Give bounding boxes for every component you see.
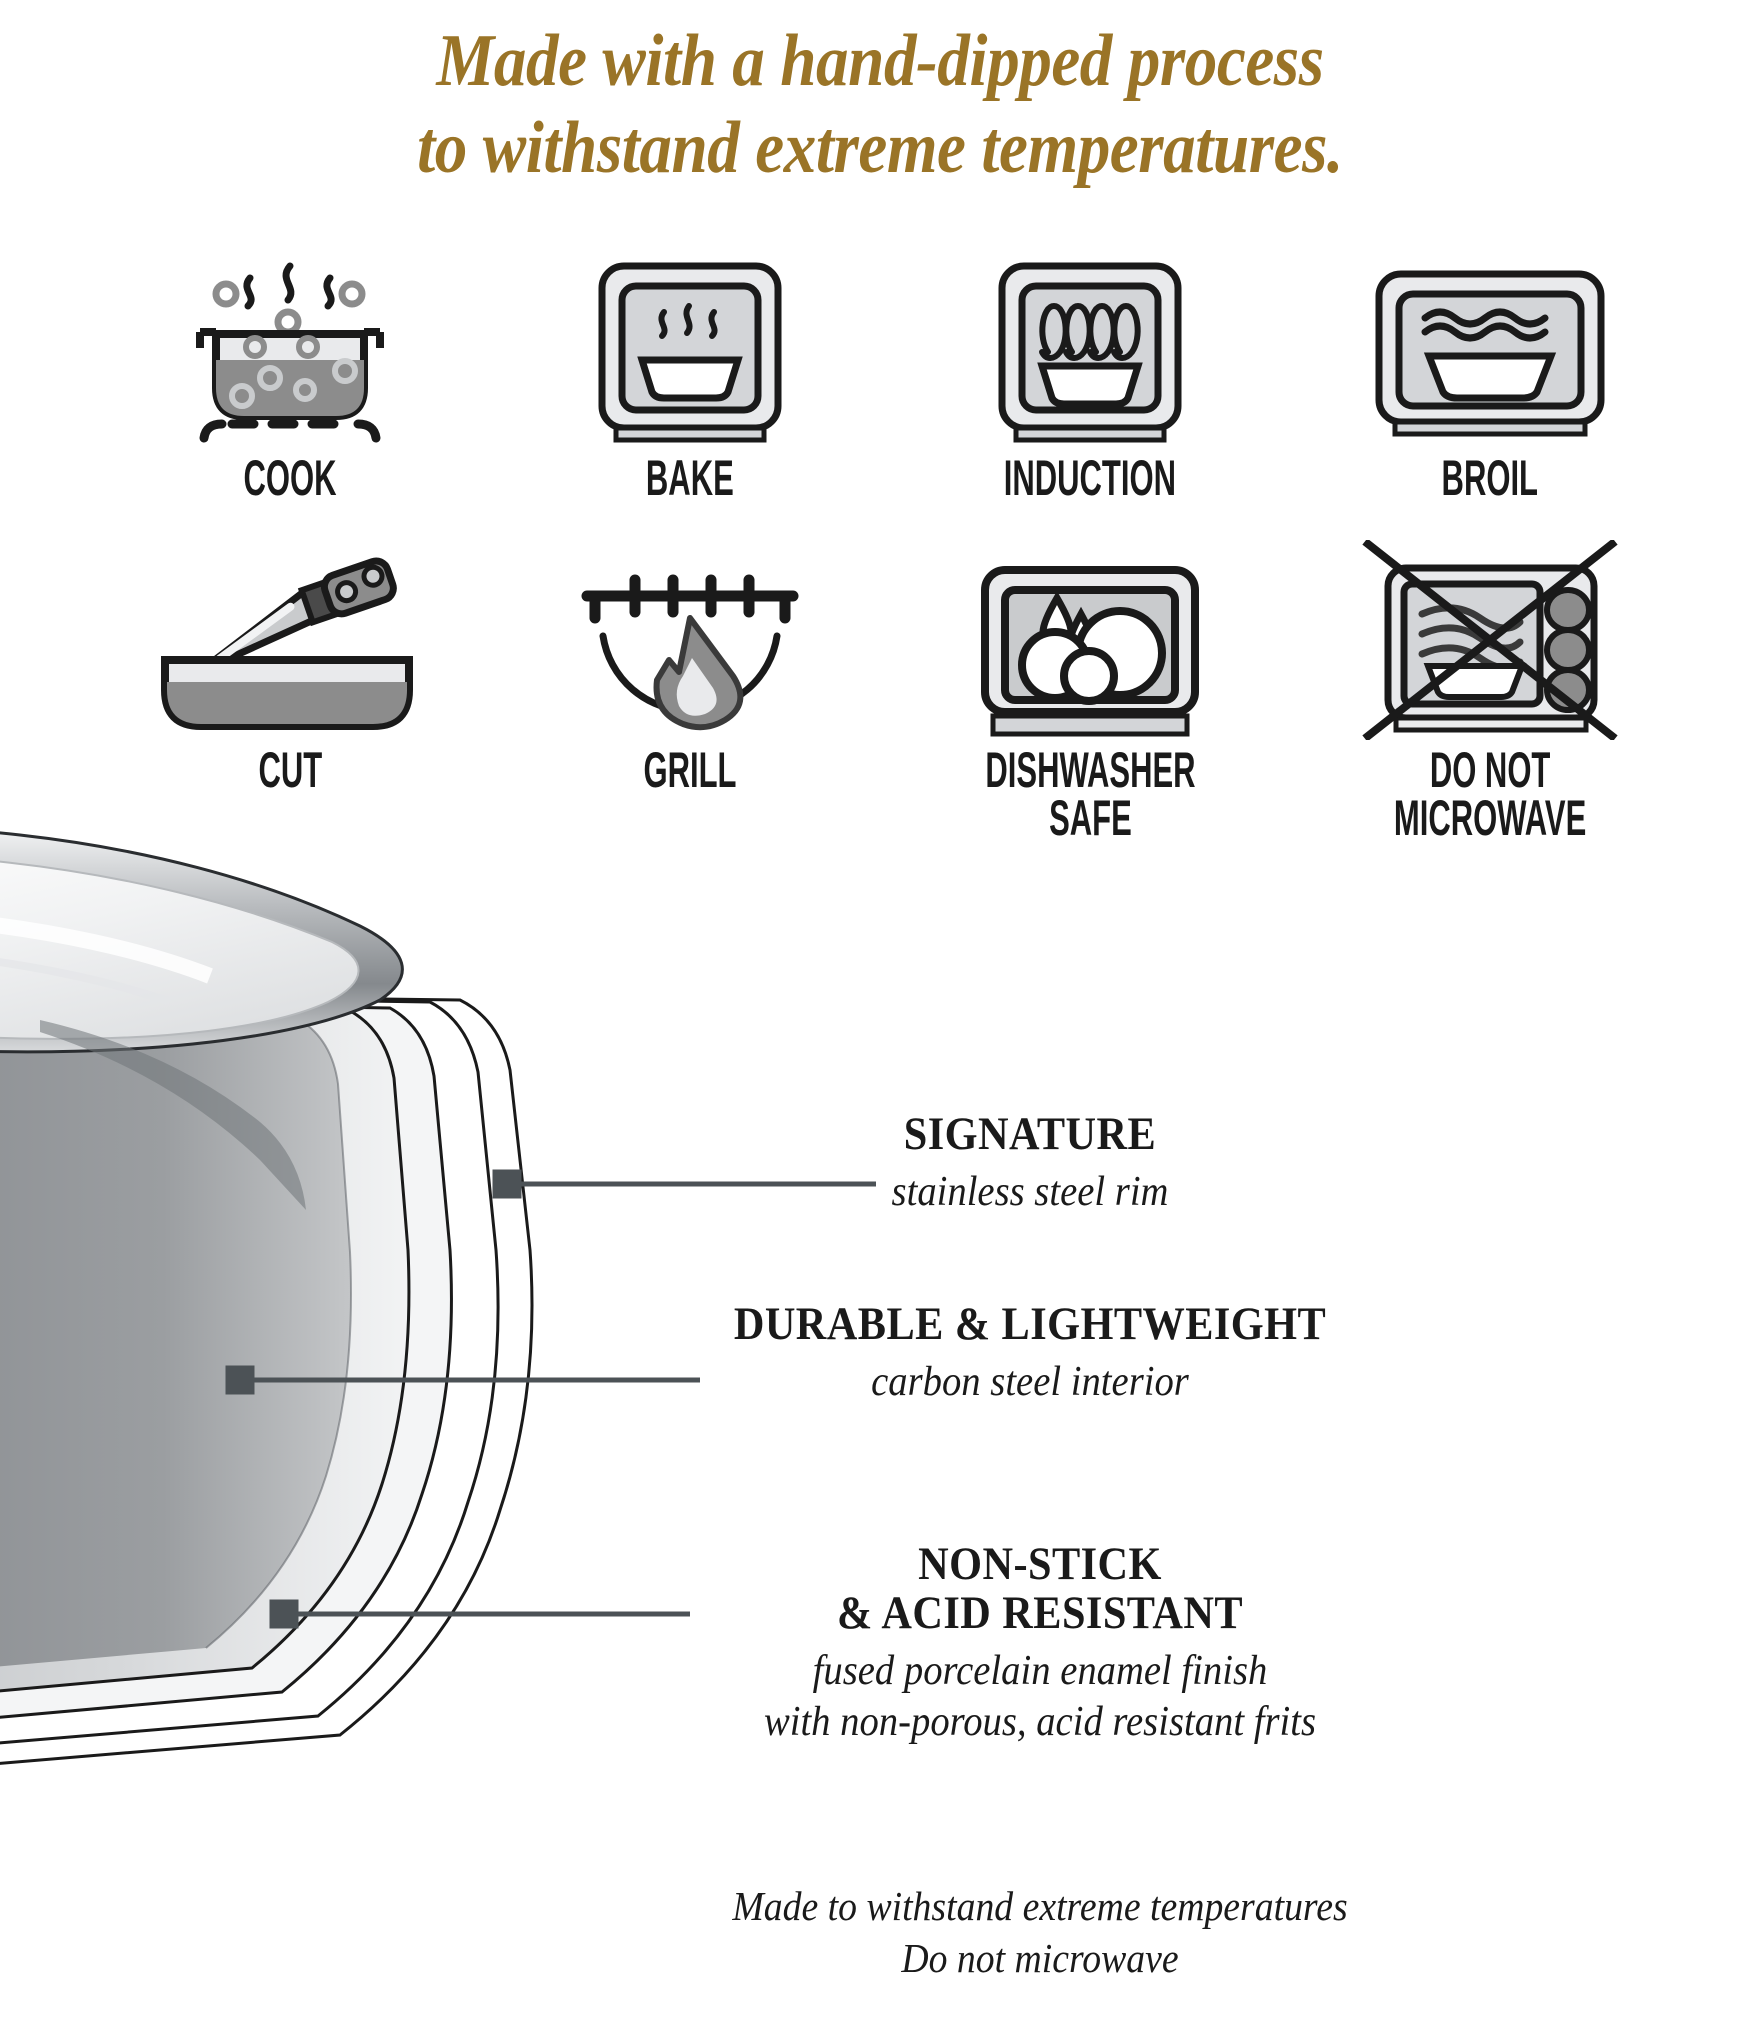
icon-label-do-not-microwave-line-1: DO NOT	[1394, 746, 1586, 794]
icon-label-dishwasher-safe: DISHWASHER SAFE	[985, 746, 1195, 842]
icon-row-1: COOK BA	[90, 248, 1690, 502]
callout-non-stick-subtitle-line-1: fused porcelain enamel finish	[626, 1646, 1454, 1697]
footnote-line-1: Made to withstand extreme temperatures	[506, 1880, 1573, 1932]
icon-label-cook: COOK	[244, 454, 337, 502]
icon-label-dishwasher-safe-line-1: DISHWASHER	[985, 746, 1195, 794]
headline-line-2: to withstand extreme temperatures.	[106, 105, 1655, 192]
callout-signature-title: SIGNATURE	[679, 1110, 1381, 1159]
bake-icon	[580, 248, 800, 448]
icon-cell-cook: COOK	[90, 248, 490, 502]
callout-non-stick-title: NON-STICK & ACID RESISTANT	[635, 1540, 1445, 1638]
do-not-microwave-icon	[1360, 530, 1620, 740]
broil-icon	[1365, 248, 1615, 448]
icon-cell-dishwasher-safe: DISHWASHER SAFE	[890, 530, 1290, 842]
callout-non-stick-title-line-1: NON-STICK	[635, 1540, 1445, 1589]
product-feature-infographic: Made with a hand-dipped process to withs…	[0, 0, 1760, 2040]
icon-cell-broil: BROIL	[1290, 248, 1690, 502]
footnote: Made to withstand extreme temperatures D…	[506, 1880, 1573, 1985]
icon-cell-induction: INDUCTION	[890, 248, 1290, 502]
icon-label-bake: BAKE	[646, 454, 734, 502]
cook-icon	[170, 248, 410, 448]
callout-durable-title: DURABLE & LIGHTWEIGHT	[607, 1300, 1453, 1349]
callout-non-stick-title-line-2: & ACID RESISTANT	[635, 1589, 1445, 1638]
icon-label-dishwasher-safe-line-2: SAFE	[985, 794, 1195, 842]
icon-label-do-not-microwave: DO NOT MICROWAVE	[1394, 746, 1586, 842]
callout-durable-subtitle: carbon steel interior	[598, 1357, 1463, 1408]
callout-non-stick-subtitle-line-2: with non-porous, acid resistant frits	[626, 1697, 1454, 1748]
callout-signature-subtitle: stainless steel rim	[671, 1167, 1389, 1218]
icon-cell-bake: BAKE	[490, 248, 890, 502]
icon-label-do-not-microwave-line-2: MICROWAVE	[1394, 794, 1586, 842]
induction-icon	[980, 248, 1200, 448]
headline-line-1: Made with a hand-dipped process	[436, 20, 1323, 102]
callout-non-stick: NON-STICK & ACID RESISTANT fused porcela…	[590, 1540, 1490, 1748]
callout-non-stick-subtitle: fused porcelain enamel finish with non-p…	[626, 1646, 1454, 1748]
icon-label-induction: INDUCTION	[1004, 454, 1176, 502]
dishwasher-safe-icon	[965, 530, 1215, 740]
icon-label-broil: BROIL	[1442, 454, 1538, 502]
footnote-line-2: Do not microwave	[506, 1932, 1573, 1984]
callout-durable: DURABLE & LIGHTWEIGHT carbon steel inter…	[560, 1300, 1500, 1408]
icon-cell-do-not-microwave: DO NOT MICROWAVE	[1290, 530, 1690, 842]
page-title: Made with a hand-dipped process to withs…	[106, 18, 1655, 193]
callout-signature: SIGNATURE stainless steel rim	[640, 1110, 1420, 1218]
